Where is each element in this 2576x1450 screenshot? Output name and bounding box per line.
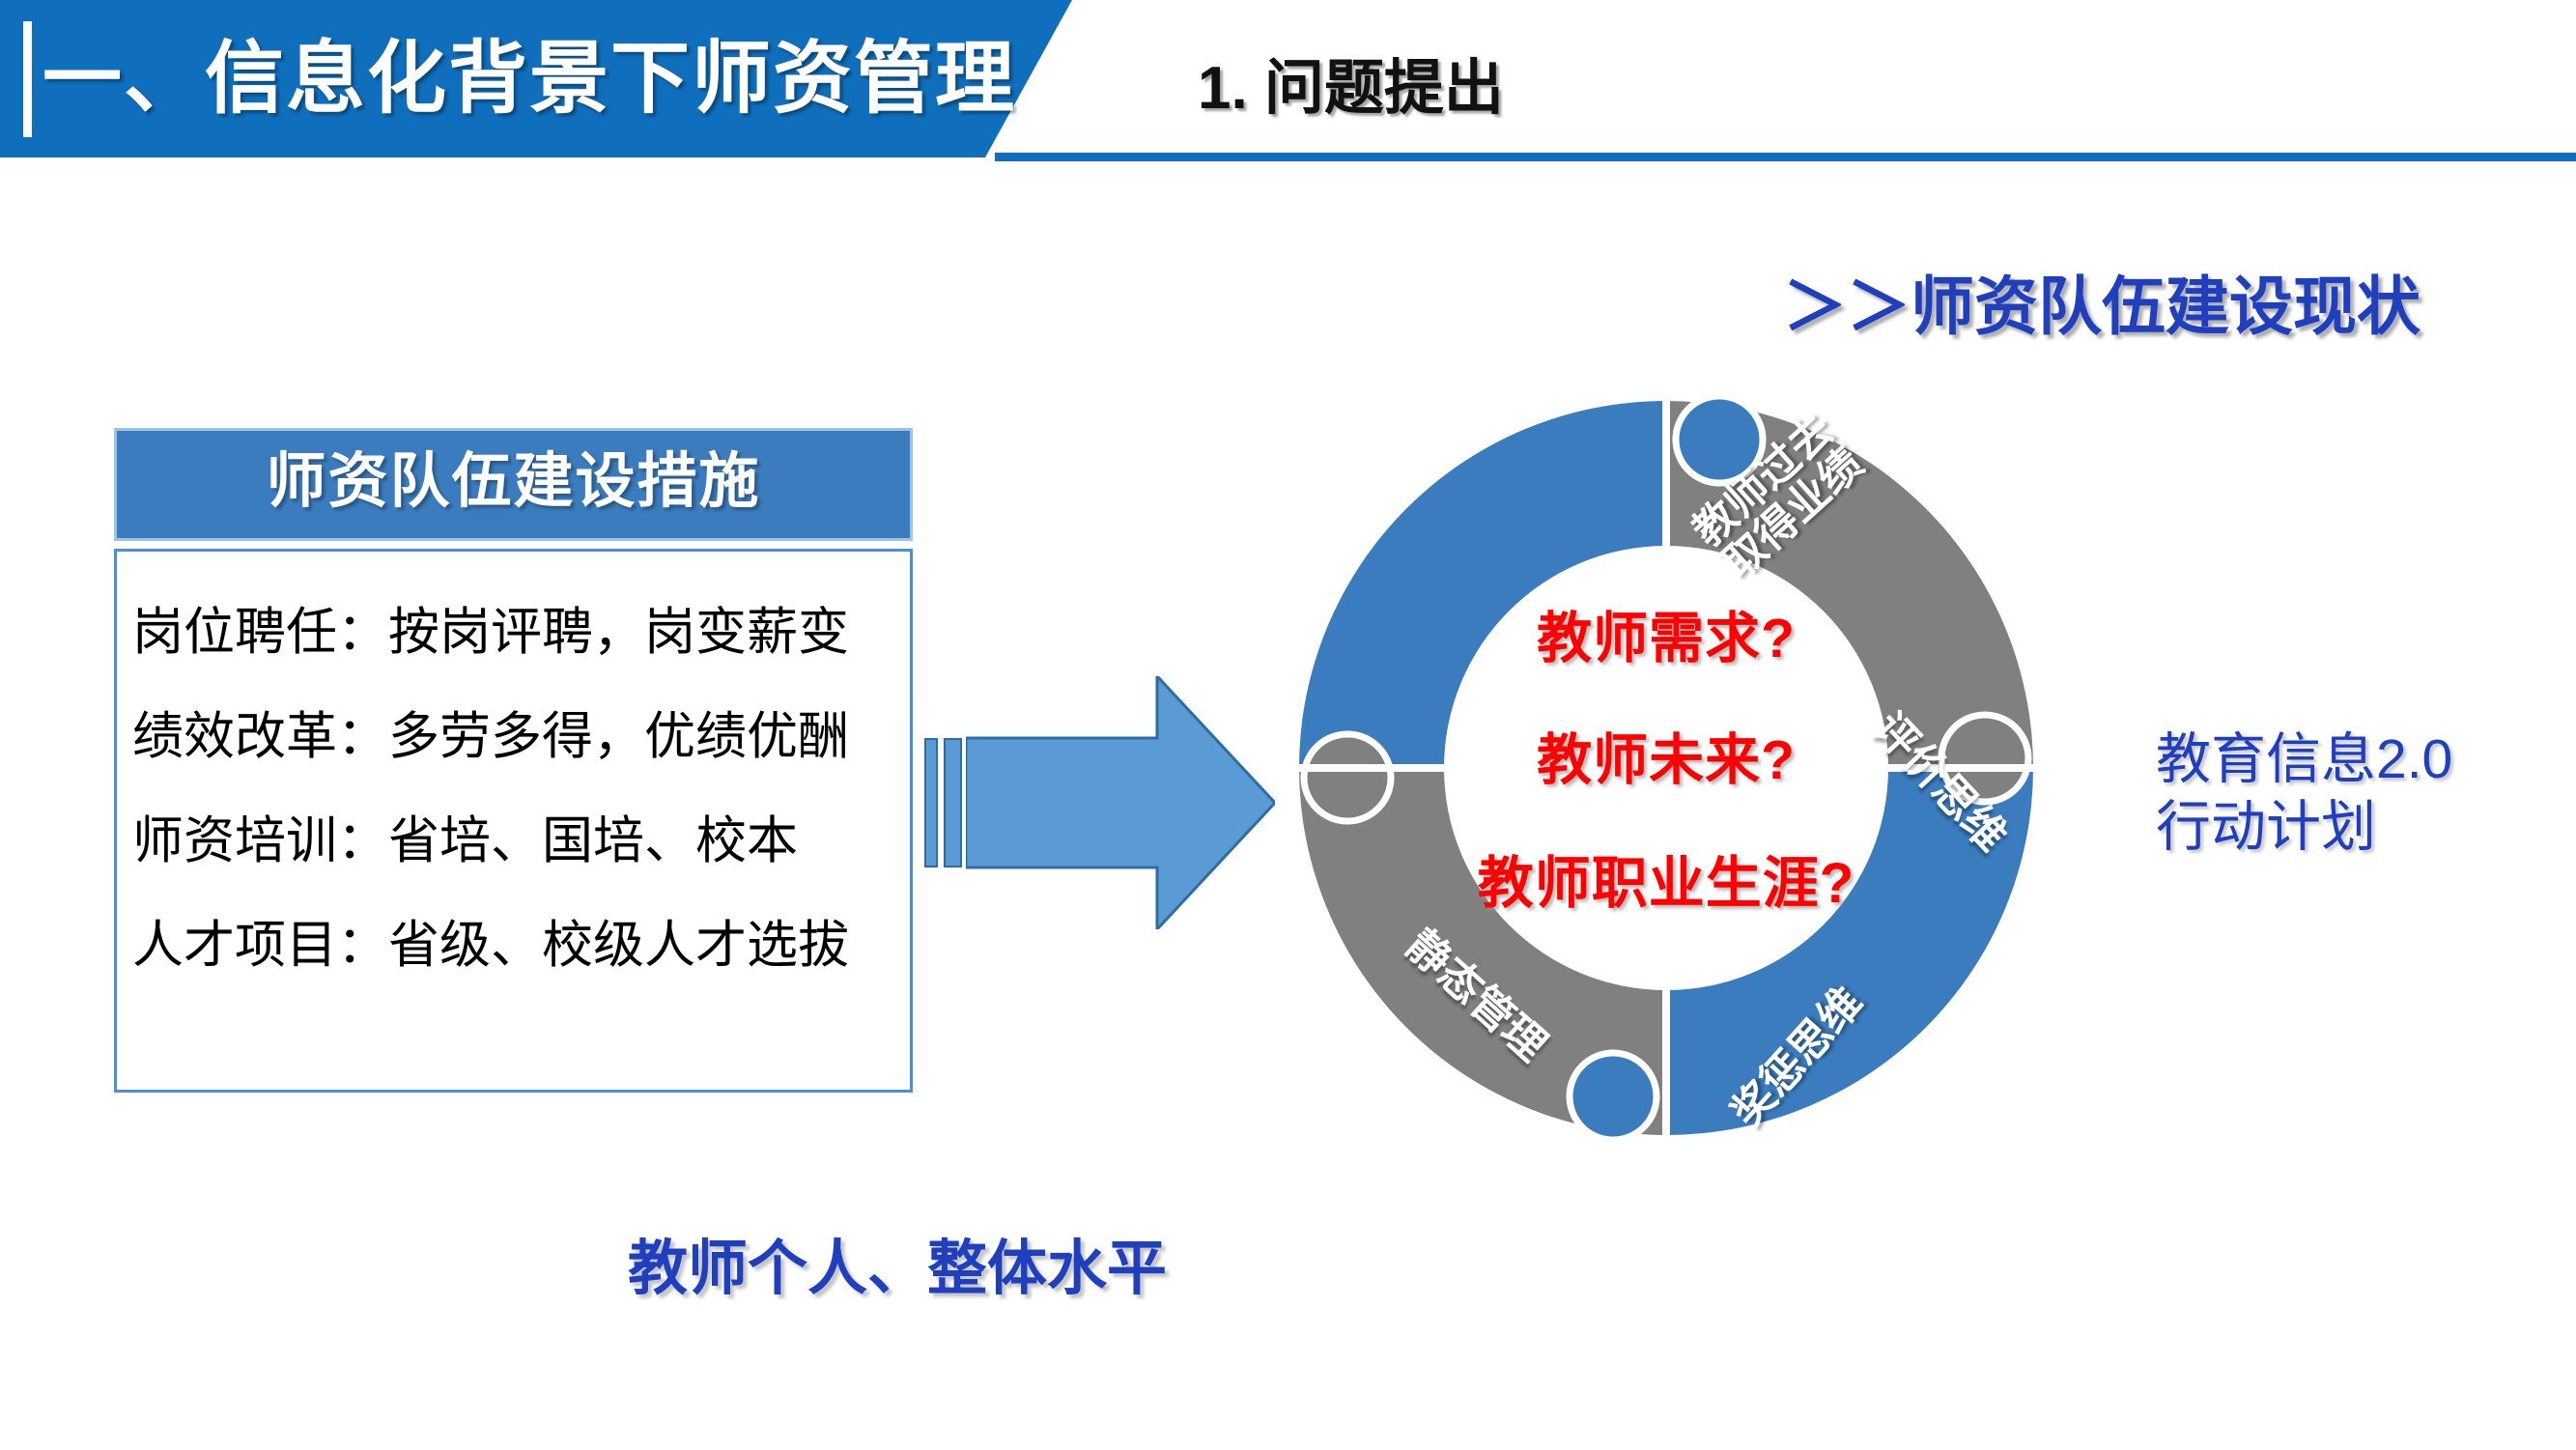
level-note: 教师个人、整体水平 [628,1219,1167,1306]
center-question: 教师未来? [1401,716,1932,795]
center-question: 教师职业生涯? [1401,838,1932,919]
plan-note: 教育信息2.0 行动计划 [2156,726,2452,861]
flow-arrow-tick [924,738,938,867]
plan-note-line2: 行动计划 [2156,794,2452,862]
flow-arrow-right-icon [966,676,1275,929]
header-accent-bar [23,21,32,137]
measures-card-title: 师资队伍建设措施 [114,428,913,541]
status-headline: ＞＞师资队伍建设现状 [1783,255,2420,348]
section-title: 一、信息化背景下师资管理 [42,27,960,131]
measures-list: 岗位聘任：按岗评聘，岗变薪变 绩效改革：多劳多得，优绩优酬 师资培训：省培、国培… [132,581,944,998]
header-divider-rule [995,153,2576,161]
cycle-donut-chart: 教师过去 取得业绩 评价思维 奖惩思维 静态管理 教师需求? 教师未来? 教师职… [1285,386,2048,1150]
center-question: 教师需求? [1401,594,1932,673]
puzzle-tab-bottom [1570,1053,1656,1140]
list-item: 师资培训：省培、国培、校本 [132,789,944,894]
center-questions: 教师需求? 教师未来? 教师职业生涯? [1401,594,1932,919]
slide-canvas: 一、信息化背景下师资管理 1. 问题提出 ＞＞师资队伍建设现状 师资队伍建设措施… [0,0,2576,1450]
list-item: 人才项目：省级、校级人才选拔 [132,894,944,998]
flow-arrow-tick [944,738,962,867]
puzzle-tab-left [1304,734,1391,821]
measures-card-body: 岗位聘任：按岗评聘，岗变薪变 绩效改革：多劳多得，优绩优酬 师资培训：省培、国培… [114,549,913,1093]
segment-gap-bottom [1662,987,1670,1142]
list-item: 岗位聘任：按岗评聘，岗变薪变 [132,581,944,685]
segment-gap-top [1662,394,1670,549]
page-subtitle: 1. 问题提出 [1198,39,1504,126]
plan-note-line1: 教育信息2.0 [2156,726,2452,794]
list-item: 绩效改革：多劳多得，优绩优酬 [132,685,944,789]
measures-card: 师资队伍建设措施 岗位聘任：按岗评聘，岗变薪变 绩效改革：多劳多得，优绩优酬 师… [114,428,913,1093]
